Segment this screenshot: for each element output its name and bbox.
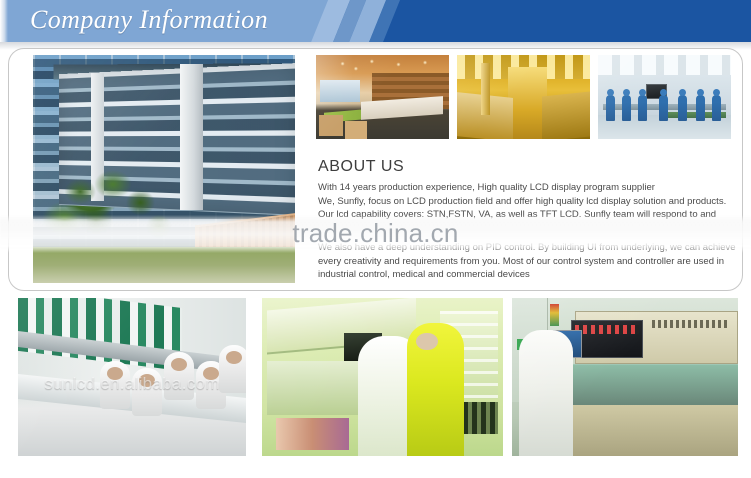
lounge-chair-2 (345, 121, 366, 139)
cleanroom-bench-right (542, 91, 590, 139)
printed-sheet (276, 418, 348, 450)
production-line-photo (18, 298, 246, 456)
tree-foliage (54, 164, 185, 255)
signal-tower-light (550, 304, 559, 326)
office-lobby-photo (316, 55, 449, 139)
cleanroom-pillar (481, 63, 490, 115)
page-title: Company Information (30, 5, 268, 35)
header-banner: Company Information (0, 0, 751, 42)
about-line: With 14 years production experience, Hig… (318, 181, 742, 195)
ground-lawn (33, 247, 295, 283)
worker-figure (712, 95, 721, 120)
control-panel-indicators (575, 325, 638, 334)
lab-equipment (267, 361, 373, 415)
machine-glass-cover (571, 364, 738, 405)
technician-face (416, 333, 438, 350)
worker-figure (606, 95, 615, 120)
header-left-edge-highlight (0, 0, 8, 42)
about-line: We, Sunfly, focus on LCD production fiel… (318, 195, 742, 209)
line-worker (100, 361, 130, 409)
machine-operator (519, 330, 573, 456)
about-us-paragraph-2: We also have a deep understanding on PID… (318, 241, 742, 282)
yellow-cleanroom-photo (457, 55, 590, 139)
cleanroom-workers-photo (598, 55, 731, 139)
office-building-photo (33, 55, 295, 283)
about-line: We also have a deep understanding on PID… (318, 241, 742, 282)
about-line: Our lcd capability covers: STN,FSTN, VA,… (318, 208, 742, 222)
header-stripe-6 (372, 0, 751, 42)
cleanroom-ceiling (598, 55, 731, 75)
cleanroom-lab-photo (262, 298, 503, 456)
company-information-page: Company Information (0, 0, 751, 478)
line-worker (164, 352, 194, 400)
line-worker (132, 368, 162, 416)
about-us-heading: ABOUT US (318, 158, 404, 176)
smt-machine-photo (512, 298, 738, 456)
worker-figure (622, 95, 631, 120)
line-worker (219, 345, 246, 393)
worker-figure (696, 95, 705, 120)
lobby-window (320, 80, 360, 102)
worker-figure (678, 95, 687, 120)
worker-figure (638, 95, 647, 120)
about-us-paragraph-1: With 14 years production experience, Hig… (318, 181, 742, 222)
machine-brand-label (652, 320, 729, 328)
lounge-chair-1 (319, 115, 343, 135)
worker-figure (659, 95, 668, 120)
machine-base-cabinet (571, 405, 738, 456)
